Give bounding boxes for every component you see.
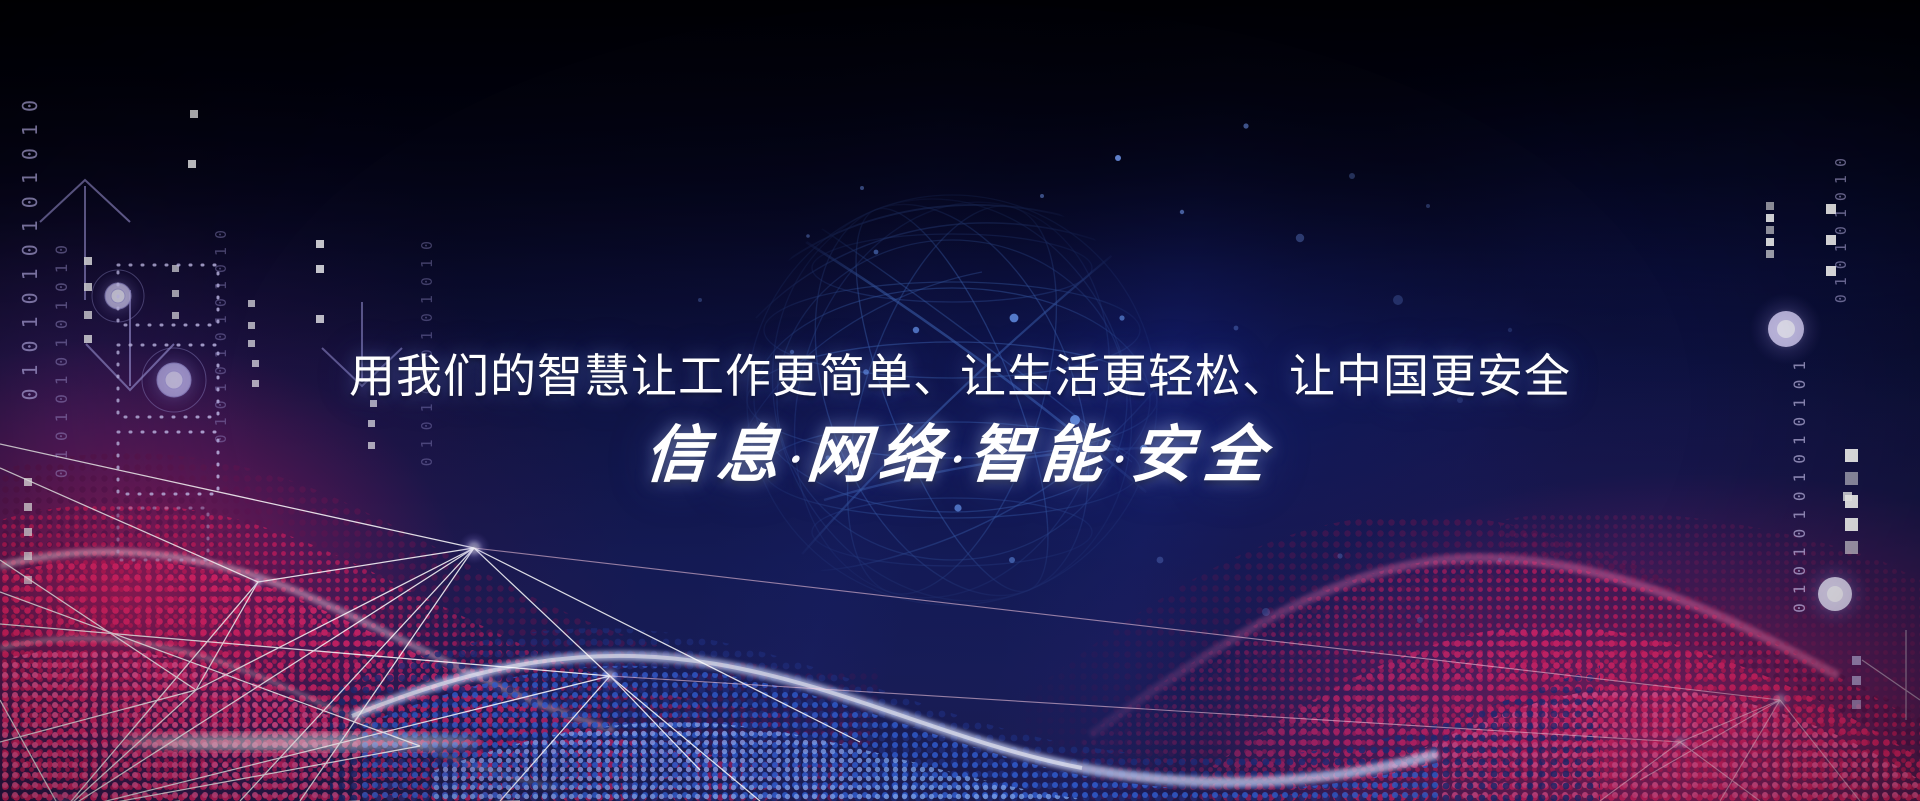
network-node-glints bbox=[40, 532, 1793, 801]
polygon-network-right bbox=[474, 548, 1860, 801]
banner-text-block: 用我们的智慧让工作更简单、让生活更轻松、让中国更安全 信息·网络·智能·安全 bbox=[0, 352, 1920, 486]
slogan-part-1: 信息 bbox=[643, 418, 792, 491]
data-square-icon bbox=[1852, 656, 1861, 709]
slogan-part-2: 网络 bbox=[804, 418, 953, 491]
slogan-part-3: 智能 bbox=[966, 418, 1115, 491]
banner-slogan: 信息·网络·智能·安全 bbox=[0, 424, 1920, 486]
wave-blue-center bbox=[330, 628, 1680, 801]
wave-magenta-right bbox=[1020, 515, 1920, 801]
binary-column-right-upper: 010101010 bbox=[1832, 150, 1850, 303]
banner-headline: 用我们的智慧让工作更简单、让生活更轻松、让中国更安全 bbox=[0, 352, 1920, 400]
glow-node-icon bbox=[92, 270, 144, 322]
polygon-network-left bbox=[0, 444, 860, 801]
tick-line bbox=[1862, 630, 1920, 720]
slogan-part-4: 安全 bbox=[1128, 418, 1277, 491]
light-streak-bottom-left bbox=[120, 733, 480, 751]
glow-node-icon bbox=[1801, 560, 1869, 628]
wave-dots-right-field bbox=[1500, 512, 1920, 801]
wave-magenta-left bbox=[0, 453, 880, 801]
banner-canvas: 0101010101010 0101010101010 010101010101… bbox=[0, 0, 1920, 801]
data-square-icon bbox=[24, 110, 377, 584]
